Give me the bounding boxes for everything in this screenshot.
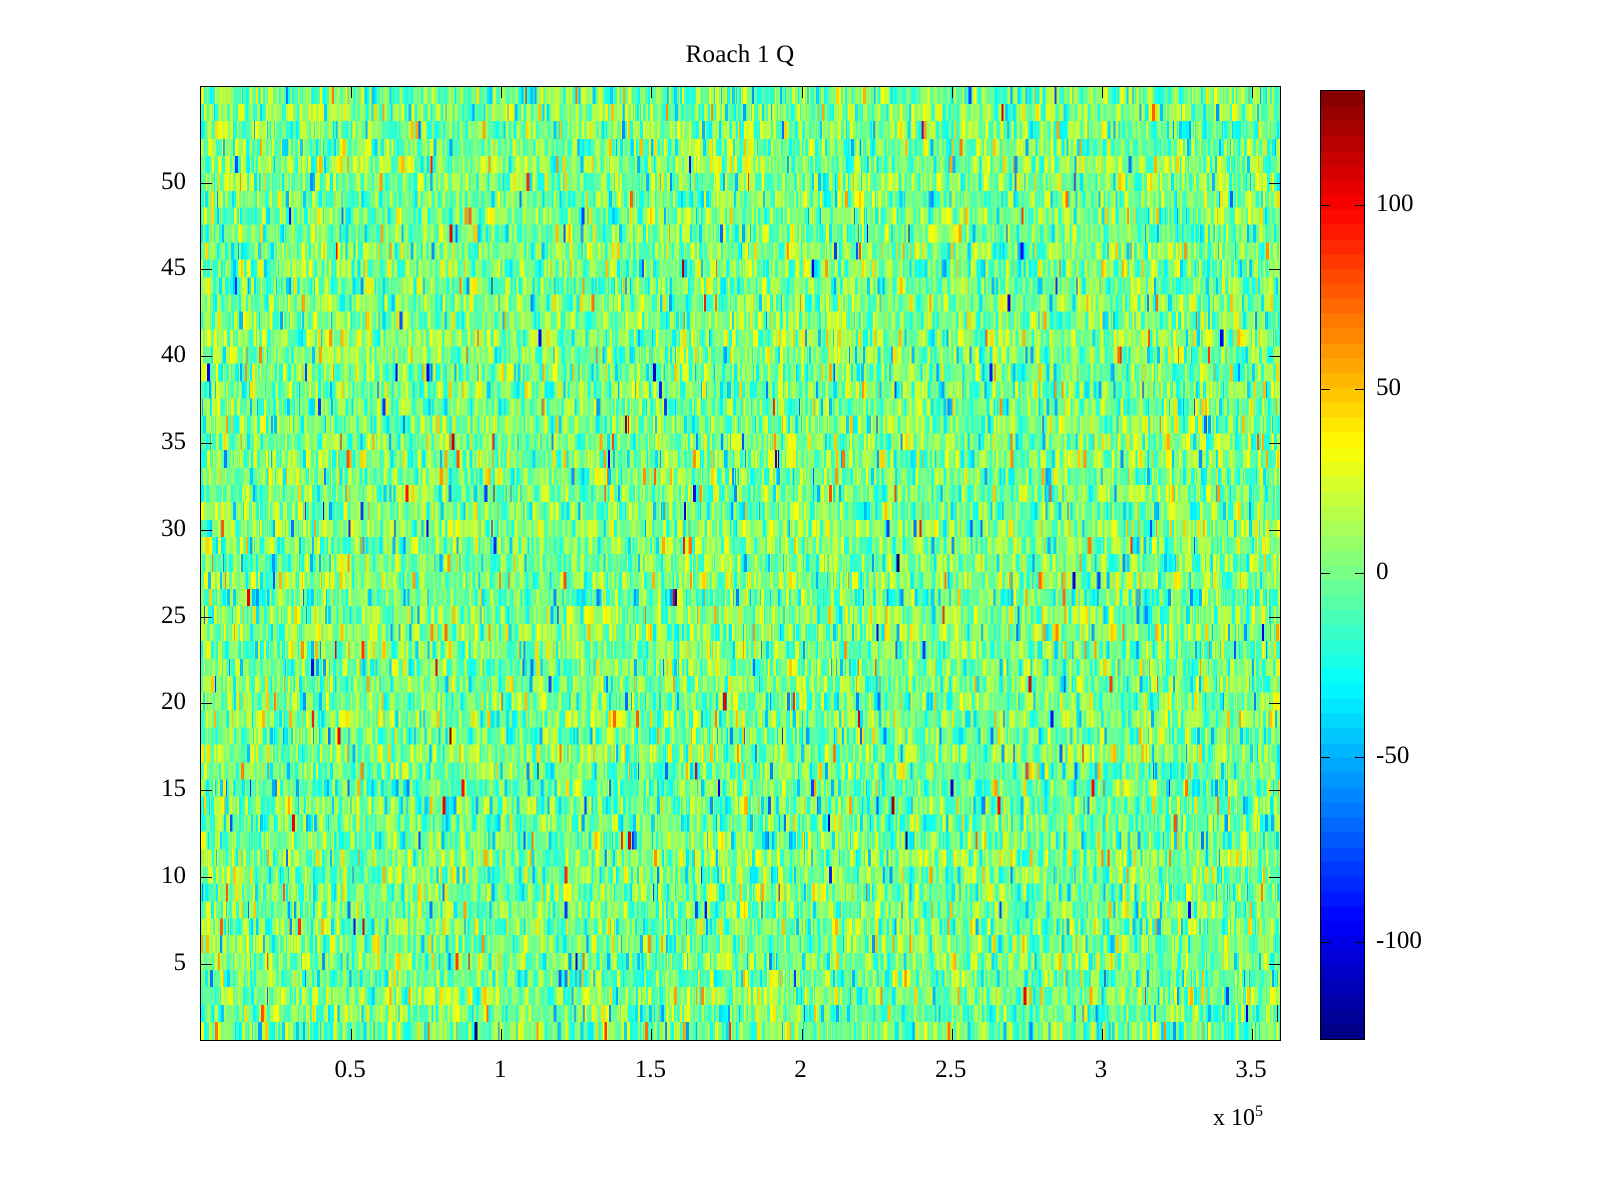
colorbar-tick-label: -100 [1376, 927, 1422, 955]
y-tick-mark [201, 356, 212, 357]
y-tick-mark [201, 530, 212, 531]
x-tick-mark-top [952, 87, 953, 98]
colorbar-gradient[interactable] [1321, 91, 1364, 1039]
colorbar-tick-mark-right [1355, 389, 1364, 390]
colorbar-tick-mark [1321, 389, 1330, 390]
x-tick-label: 1 [494, 1056, 507, 1084]
x-tick-label: 2.5 [935, 1056, 966, 1084]
x-tick-mark [802, 1029, 803, 1040]
y-tick-label: 5 [174, 949, 187, 977]
x-tick-mark-top [1102, 87, 1103, 98]
x-tick-mark-top [802, 87, 803, 98]
x-tick-label: 3.5 [1235, 1056, 1266, 1084]
x-tick-label: 1.5 [635, 1056, 666, 1084]
y-tick-mark [201, 443, 212, 444]
y-tick-label: 15 [161, 775, 186, 803]
x-tick-mark [501, 1029, 502, 1040]
x-tick-mark [651, 1029, 652, 1040]
y-tick-label: 30 [161, 515, 186, 543]
heatmap-axes[interactable] [200, 86, 1281, 1041]
y-tick-mark-right [1269, 790, 1280, 791]
y-tick-label: 40 [161, 341, 186, 369]
y-tick-mark [201, 964, 212, 965]
x-axis-exponent-label: x 105 [1213, 1103, 1263, 1132]
y-tick-mark [201, 703, 212, 704]
x-tick-mark-top [501, 87, 502, 98]
y-tick-label: 45 [161, 254, 186, 282]
y-tick-mark [201, 617, 212, 618]
colorbar-tick-mark [1321, 573, 1330, 574]
colorbar-tick-mark-right [1355, 205, 1364, 206]
colorbar-tick-mark-right [1355, 757, 1364, 758]
x-tick-label: 0.5 [335, 1056, 366, 1084]
y-tick-mark [201, 269, 212, 270]
x-tick-label: 2 [794, 1056, 807, 1084]
colorbar-tick-label: -50 [1376, 742, 1409, 770]
colorbar-tick-label: 50 [1376, 374, 1401, 402]
x-tick-mark [1102, 1029, 1103, 1040]
x-tick-mark-top [1252, 87, 1253, 98]
colorbar[interactable] [1320, 90, 1365, 1040]
figure-window: Roach 1 Q 0.511.522.533.5 51015202530354… [0, 0, 1600, 1200]
y-tick-mark-right [1269, 877, 1280, 878]
x-tick-mark [952, 1029, 953, 1040]
x-axis-exponent-power: 5 [1255, 1103, 1263, 1120]
y-tick-mark-right [1269, 443, 1280, 444]
x-tick-mark-top [651, 87, 652, 98]
page-title: Roach 1 Q [0, 41, 1480, 69]
y-tick-mark-right [1269, 530, 1280, 531]
y-tick-label: 10 [161, 862, 186, 890]
y-tick-label: 35 [161, 428, 186, 456]
colorbar-tick-label: 100 [1376, 190, 1414, 218]
x-tick-mark-top [351, 87, 352, 98]
y-tick-mark-right [1269, 269, 1280, 270]
colorbar-tick-mark-right [1355, 942, 1364, 943]
x-tick-mark [1252, 1029, 1253, 1040]
heatmap-image[interactable] [201, 87, 1280, 1040]
y-tick-label: 20 [161, 688, 186, 716]
y-tick-mark-right [1269, 356, 1280, 357]
y-tick-mark-right [1269, 183, 1280, 184]
y-tick-label: 50 [161, 168, 186, 196]
x-tick-label: 3 [1095, 1056, 1108, 1084]
colorbar-tick-mark [1321, 942, 1330, 943]
colorbar-tick-mark [1321, 205, 1330, 206]
y-tick-mark-right [1269, 617, 1280, 618]
y-tick-mark-right [1269, 703, 1280, 704]
y-tick-mark [201, 183, 212, 184]
colorbar-tick-label: 0 [1376, 558, 1389, 586]
y-tick-label: 25 [161, 602, 186, 630]
y-tick-mark [201, 877, 212, 878]
y-tick-mark-right [1269, 964, 1280, 965]
colorbar-tick-mark [1321, 757, 1330, 758]
y-tick-mark [201, 790, 212, 791]
x-axis-exponent-mantissa: x 10 [1213, 1105, 1255, 1131]
x-tick-mark [351, 1029, 352, 1040]
colorbar-tick-mark-right [1355, 573, 1364, 574]
